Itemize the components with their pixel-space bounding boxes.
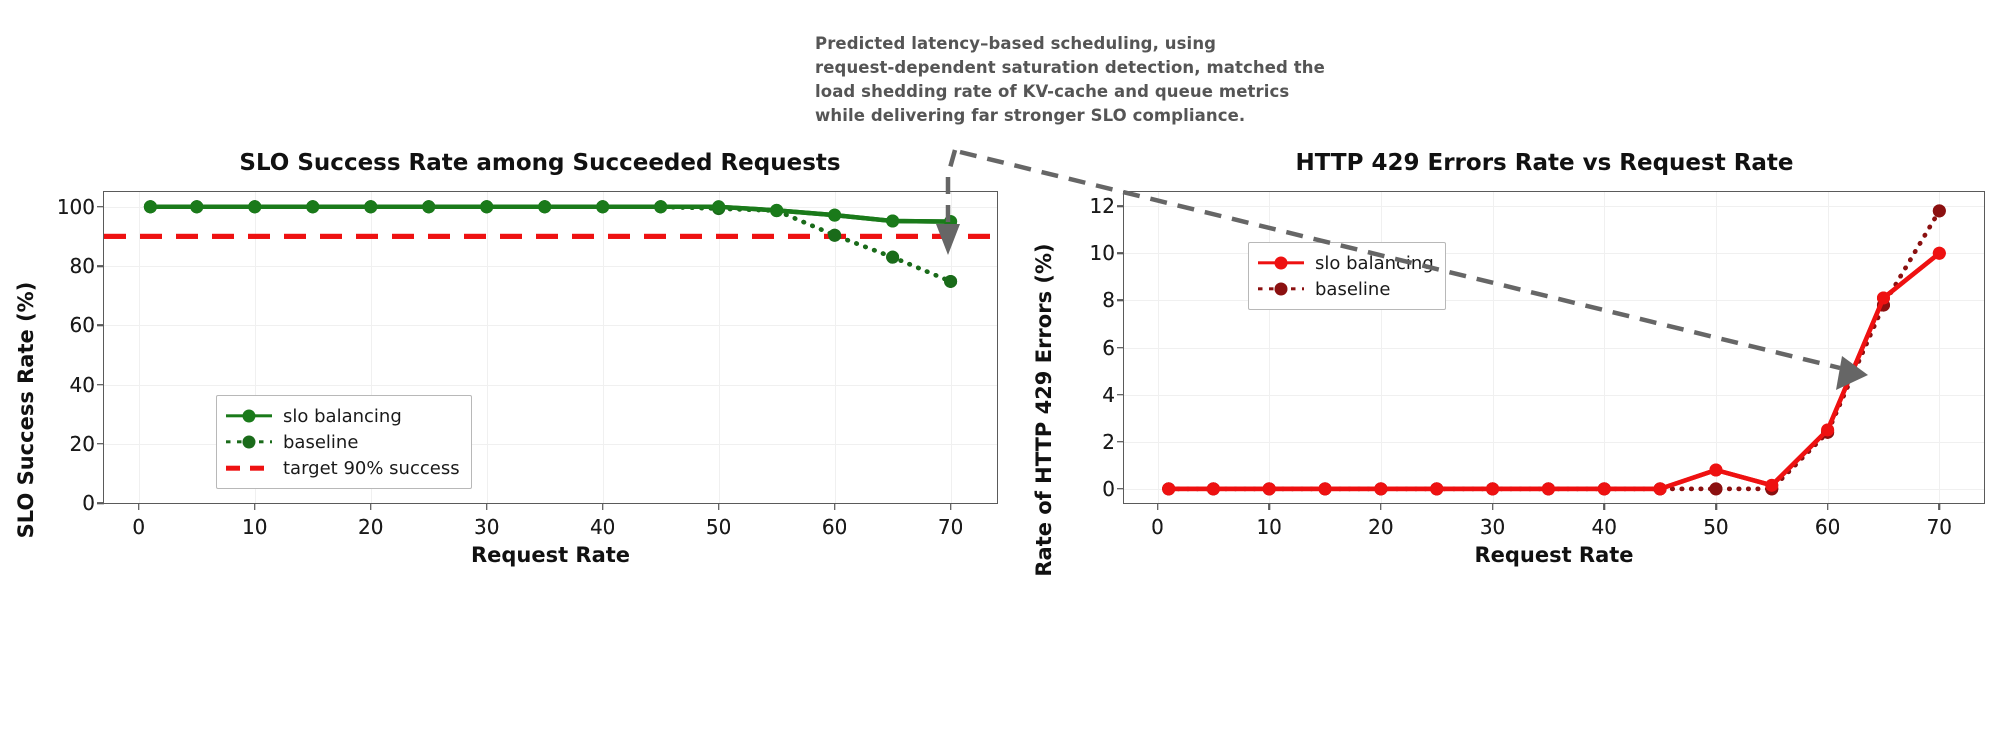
data-point bbox=[364, 200, 377, 213]
chart-title-left: SLO Success Rate among Succeeded Request… bbox=[0, 150, 1010, 176]
legend-item-target[interactable]: target 90% success bbox=[226, 455, 460, 481]
y-tick-mark bbox=[1117, 205, 1124, 207]
x-tick-mark bbox=[1827, 503, 1829, 510]
data-point bbox=[1374, 482, 1387, 495]
x-tick-label: 40 bbox=[590, 515, 615, 539]
legend-item-baseline[interactable]: baseline bbox=[1258, 276, 1434, 302]
x-tick-label: 0 bbox=[132, 515, 145, 539]
data-point bbox=[144, 200, 157, 213]
x-tick-label: 60 bbox=[1815, 515, 1840, 539]
x-tick-mark bbox=[1715, 503, 1717, 510]
data-point bbox=[770, 204, 783, 217]
y-tick-label: 100 bbox=[57, 195, 95, 219]
y-tick-label: 12 bbox=[1090, 194, 1115, 218]
x-tick-mark bbox=[1939, 503, 1941, 510]
x-tick-mark bbox=[602, 503, 604, 510]
legend-label-slo-balancing: slo balancing bbox=[1315, 253, 1434, 274]
x-tick-label: 70 bbox=[938, 515, 963, 539]
annotation-note: Predicted latency–based scheduling, usin… bbox=[815, 32, 1335, 128]
x-tick-label: 50 bbox=[706, 515, 731, 539]
legend-left[interactable]: slo balancing baseline target 90% succes… bbox=[216, 395, 472, 489]
x-tick-mark bbox=[138, 503, 140, 510]
legend-key-dotted-line-icon bbox=[1258, 280, 1304, 298]
legend-key-solid-line-icon bbox=[226, 407, 272, 425]
y-tick-mark bbox=[97, 324, 104, 326]
x-tick-mark bbox=[834, 503, 836, 510]
data-point bbox=[1821, 423, 1834, 436]
y-tick-mark bbox=[1117, 488, 1124, 490]
y-tick-mark bbox=[1117, 300, 1124, 302]
x-tick-label: 0 bbox=[1151, 515, 1164, 539]
x-tick-label: 20 bbox=[1368, 515, 1393, 539]
y-tick-mark bbox=[97, 265, 104, 267]
y-tick-label: 20 bbox=[70, 432, 95, 456]
legend-key-dotted-line-icon bbox=[226, 433, 272, 451]
annotation-line-1: Predicted latency–based scheduling, usin… bbox=[815, 32, 1335, 56]
legend-key-dashed-line-icon bbox=[226, 459, 272, 477]
data-point bbox=[538, 200, 551, 213]
x-tick-mark bbox=[1603, 503, 1605, 510]
y-tick-mark bbox=[97, 206, 104, 208]
y-tick-mark bbox=[1117, 252, 1124, 254]
plot-area-left: 0204060801000102030405060700204060801000… bbox=[103, 191, 998, 504]
data-point bbox=[828, 209, 841, 222]
x-tick-label: 30 bbox=[474, 515, 499, 539]
series-layer-right bbox=[1124, 192, 1984, 503]
legend-label-baseline: baseline bbox=[1315, 279, 1390, 300]
y-tick-mark bbox=[97, 384, 104, 386]
x-tick-label: 20 bbox=[358, 515, 383, 539]
legend-label-baseline: baseline bbox=[283, 432, 358, 453]
data-point bbox=[480, 200, 493, 213]
legend-key-solid-line-icon bbox=[1258, 254, 1304, 272]
x-tick-mark bbox=[1157, 503, 1159, 510]
x-tick-label: 10 bbox=[1256, 515, 1281, 539]
data-point bbox=[654, 200, 667, 213]
legend-right[interactable]: slo balancing baseline bbox=[1248, 242, 1446, 310]
x-tick-mark bbox=[370, 503, 372, 510]
data-point bbox=[1319, 482, 1332, 495]
x-tick-label: 40 bbox=[1592, 515, 1617, 539]
data-point bbox=[190, 200, 203, 213]
chart-panel-slo-success: SLO Success Rate among Succeeded Request… bbox=[0, 150, 1010, 670]
y-tick-label: 40 bbox=[70, 373, 95, 397]
x-tick-label: 70 bbox=[1927, 515, 1952, 539]
y-axis-label-left: SLO Success Rate (%) bbox=[14, 282, 38, 539]
x-tick-label: 30 bbox=[1480, 515, 1505, 539]
data-point bbox=[1765, 479, 1778, 492]
x-tick-label: 60 bbox=[822, 515, 847, 539]
data-point bbox=[886, 251, 899, 264]
y-axis-label-right: Rate of HTTP 429 Errors (%) bbox=[1032, 243, 1056, 576]
x-tick-mark bbox=[1492, 503, 1494, 510]
y-tick-label: 60 bbox=[70, 313, 95, 337]
data-point bbox=[944, 215, 957, 228]
legend-item-slo-balancing[interactable]: slo balancing bbox=[226, 403, 460, 429]
y-tick-label: 4 bbox=[1102, 383, 1115, 407]
data-point bbox=[1486, 482, 1499, 495]
data-point bbox=[1933, 204, 1946, 217]
y-tick-label: 0 bbox=[1102, 477, 1115, 501]
annotation-line-4: while delivering far stronger SLO compli… bbox=[815, 104, 1335, 128]
y-tick-label: 8 bbox=[1102, 288, 1115, 312]
y-tick-label: 80 bbox=[70, 254, 95, 278]
y-tick-label: 2 bbox=[1102, 430, 1115, 454]
x-tick-label: 10 bbox=[242, 515, 267, 539]
legend-item-slo-balancing[interactable]: slo balancing bbox=[1258, 250, 1434, 276]
data-point bbox=[422, 200, 435, 213]
data-point bbox=[1542, 482, 1555, 495]
chart-title-right: HTTP 429 Errors Rate vs Request Rate bbox=[1010, 150, 1999, 176]
y-tick-mark bbox=[97, 443, 104, 445]
legend-item-baseline[interactable]: baseline bbox=[226, 429, 460, 455]
y-tick-label: 6 bbox=[1102, 336, 1115, 360]
data-point bbox=[1263, 482, 1276, 495]
data-point bbox=[1709, 482, 1722, 495]
data-point bbox=[1207, 482, 1220, 495]
y-tick-label: 0 bbox=[82, 491, 95, 515]
x-axis-label-left: Request Rate bbox=[104, 543, 997, 567]
legend-label-target: target 90% success bbox=[283, 458, 460, 479]
data-point bbox=[1598, 482, 1611, 495]
data-point bbox=[596, 200, 609, 213]
data-point bbox=[248, 200, 261, 213]
y-tick-mark bbox=[97, 502, 104, 504]
x-tick-mark bbox=[718, 503, 720, 510]
data-point bbox=[712, 200, 725, 213]
x-axis-label-right: Request Rate bbox=[1124, 543, 1984, 567]
data-point bbox=[1709, 464, 1722, 477]
y-tick-mark bbox=[1117, 441, 1124, 443]
x-tick-mark bbox=[1380, 503, 1382, 510]
legend-label-slo-balancing: slo balancing bbox=[283, 406, 402, 427]
data-point bbox=[886, 215, 899, 228]
data-point bbox=[1162, 482, 1175, 495]
data-point bbox=[944, 275, 957, 288]
x-tick-mark bbox=[950, 503, 952, 510]
data-point bbox=[1654, 482, 1667, 495]
data-point bbox=[1430, 482, 1443, 495]
x-tick-label: 50 bbox=[1703, 515, 1728, 539]
data-point bbox=[1933, 247, 1946, 260]
data-point bbox=[828, 229, 841, 242]
y-tick-mark bbox=[1117, 347, 1124, 349]
y-tick-label: 10 bbox=[1090, 241, 1115, 265]
data-point bbox=[1877, 292, 1890, 305]
x-tick-mark bbox=[254, 503, 256, 510]
chart-panel-http-429: HTTP 429 Errors Rate vs Request Rate Rat… bbox=[1010, 150, 1999, 670]
x-tick-mark bbox=[486, 503, 488, 510]
data-point bbox=[306, 200, 319, 213]
plot-area-right: 0246810120102030405060700246810120102030… bbox=[1123, 191, 1985, 504]
annotation-line-2: request-dependent saturation detection, … bbox=[815, 56, 1335, 80]
y-tick-mark bbox=[1117, 394, 1124, 396]
x-tick-mark bbox=[1268, 503, 1270, 510]
annotation-line-3: load shedding rate of KV-cache and queue… bbox=[815, 80, 1335, 104]
